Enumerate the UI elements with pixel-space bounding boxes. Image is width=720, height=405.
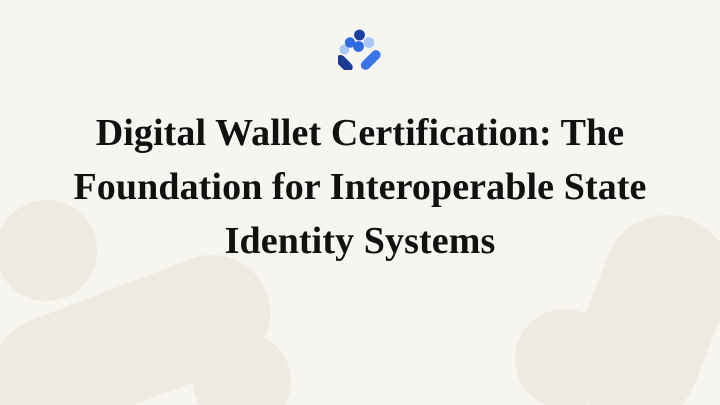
logo-dot-right: [364, 37, 375, 48]
brand-logo-icon: [338, 26, 382, 70]
logo-dot-top: [354, 30, 365, 41]
page-title: Digital Wallet Certification: The Founda…: [60, 106, 660, 268]
logo-bar-right: [359, 48, 382, 70]
title-slide: Digital Wallet Certification: The Founda…: [0, 0, 720, 405]
slide-content: Digital Wallet Certification: The Founda…: [0, 0, 720, 405]
logo-dot-center: [353, 41, 364, 52]
logo-bar-left: [338, 53, 355, 70]
